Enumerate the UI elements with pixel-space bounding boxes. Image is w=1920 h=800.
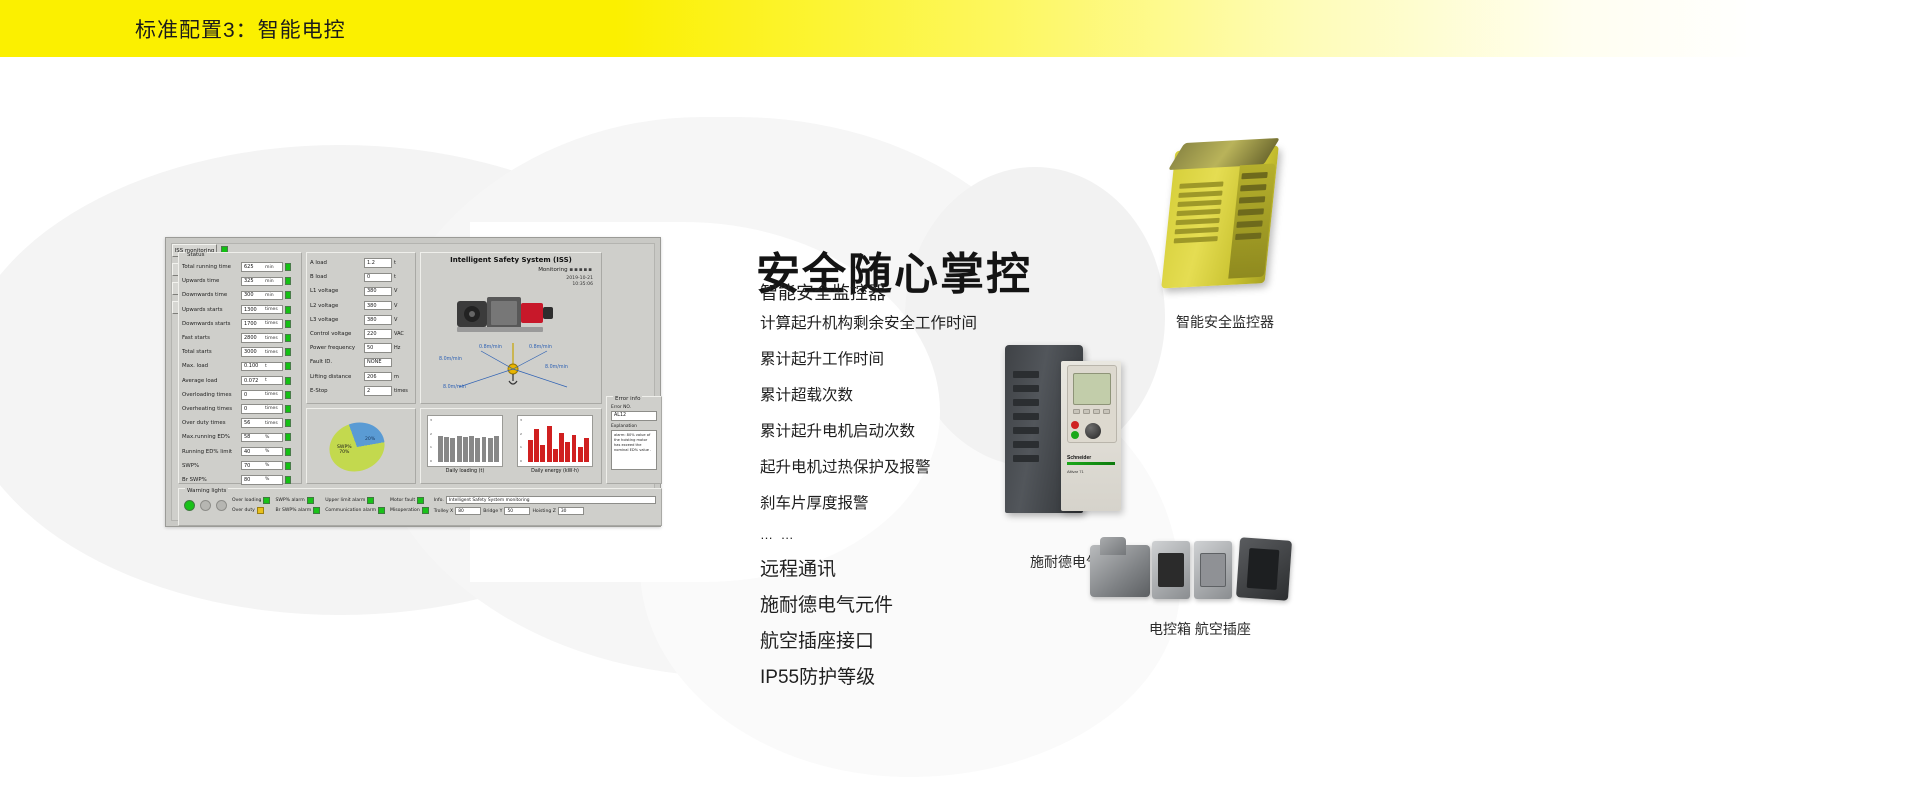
row-unit: t [394, 274, 408, 280]
lamp-label: Over loading [232, 498, 261, 503]
row-unit: Hz [394, 345, 408, 351]
daily-energy-chart: 3210 [517, 415, 593, 467]
table-row: Power frequency50Hz [307, 341, 415, 355]
row-unit: % [265, 477, 269, 482]
row-field[interactable]: 0.100t [241, 362, 283, 372]
lamp-indicator [307, 497, 314, 504]
row-label: L1 voltage [310, 288, 362, 294]
lamp-br-swp-alarm: Br SWP% alarm [275, 507, 320, 514]
winch-illustration [451, 285, 561, 341]
row-field[interactable]: 2 [364, 386, 392, 396]
status-led [285, 476, 291, 484]
row-field[interactable]: 0.072t [241, 376, 283, 386]
highlight-item: 施耐德电气元件 [760, 590, 1090, 617]
table-row: Fast starts2800times [179, 331, 301, 345]
connectors-image [1090, 535, 1300, 605]
row-value: 70 [244, 463, 262, 469]
table-row: Downwards starts1700times [179, 317, 301, 331]
swp-pie-chart-group: 20% SWP%70% [306, 408, 416, 484]
date-value: 2019-10-21 [566, 276, 593, 282]
safety-relay-caption: 智能安全监控器 [1145, 312, 1305, 332]
table-row: L1 voltage380V [307, 284, 415, 298]
row-unit: t [265, 378, 267, 383]
row-label: Upwards starts [182, 307, 239, 313]
main-visualization-group: Intelligent Safety System (ISS) Monitori… [420, 252, 602, 404]
row-value: 1300 [244, 307, 262, 313]
status-led [285, 277, 291, 285]
row-field[interactable]: 0 [364, 273, 392, 283]
status-led [285, 348, 291, 356]
row-label: Lifting distance [310, 374, 362, 380]
lamp-column-4: Motor fault Misoperation [390, 497, 429, 514]
row-value: 40 [244, 449, 262, 455]
daily-loading-chart: 3210 [427, 415, 503, 467]
row-value: 0 [244, 392, 262, 398]
row-label: Control voltage [310, 331, 362, 337]
pie-slices [322, 415, 391, 479]
row-unit: times [265, 307, 278, 312]
table-row: L2 voltage380V [307, 299, 415, 313]
row-field[interactable]: 380 [364, 301, 392, 311]
row-field[interactable]: 325min [241, 277, 283, 287]
measurement-group: A load1.2t B load0t L1 voltage380V L2 vo… [306, 252, 416, 404]
status-led [285, 377, 291, 385]
table-row: Overloading times0times [179, 388, 301, 402]
status-led [285, 419, 291, 427]
lamp-over-duty: Over duty [232, 507, 270, 514]
table-row: Upwards starts1300times [179, 303, 301, 317]
lamp-label: Motor fault [390, 498, 415, 503]
time-value: 10:35:06 [566, 282, 593, 288]
row-unit: times [265, 406, 278, 411]
pie-chart: 20% SWP%70% [307, 415, 417, 485]
row-unit: VAC [394, 331, 408, 337]
table-row: Max.running ED%58% [179, 430, 301, 444]
row-label: Over duty times [182, 420, 239, 426]
row-value: 3000 [244, 349, 262, 355]
highlight-item: IP55防护等级 [760, 662, 1090, 689]
lamp-upper-limit-alarm: Upper limit alarm [325, 497, 385, 504]
speed-label: 8.0m/min [439, 357, 462, 362]
lamp-column-3: Upper limit alarm Communication alarm [325, 497, 385, 514]
row-unit: times [265, 336, 278, 341]
table-row: L3 voltage380V [307, 313, 415, 327]
row-value: 325 [244, 278, 262, 284]
error-no-value[interactable]: AL12 [611, 411, 657, 421]
row-unit: times [265, 350, 278, 355]
row-unit: min [265, 265, 274, 270]
status-led [285, 334, 291, 342]
row-unit: % [265, 449, 269, 454]
warning-lights-group: Warning lights Over loading Over duty SW… [178, 488, 662, 526]
status-led [285, 462, 291, 470]
row-value: 1700 [244, 321, 262, 327]
trolley-x-value[interactable]: 80 [455, 507, 481, 515]
row-field[interactable]: 206 [364, 372, 392, 382]
row-field[interactable]: 300min [241, 291, 283, 301]
chart-y-axis: 3210 [520, 418, 527, 463]
status-led [285, 291, 291, 299]
lamp-swp-alarm: SWP% alarm [275, 497, 320, 504]
row-unit: m [394, 374, 408, 380]
row-label: Total starts [182, 349, 239, 355]
row-field[interactable]: 1300times [241, 305, 283, 315]
chart-bars [528, 420, 589, 462]
table-row: Over duty times56times [179, 416, 301, 430]
row-field[interactable]: 40% [241, 447, 283, 457]
lamp-over-loading: Over loading [232, 497, 270, 504]
table-row: Running ED% limit40% [179, 444, 301, 458]
row-label: Fault ID. [310, 359, 362, 365]
hoisting-z-value[interactable]: 30 [558, 507, 584, 515]
info-row: Info. Intelligent Safety System monitori… [434, 496, 656, 504]
lamp-label: Br SWP% alarm [275, 508, 311, 513]
table-row: A load1.2t [307, 256, 415, 270]
status-led [285, 320, 291, 328]
lamp-indicator [378, 507, 385, 514]
page-stage: Status Total running time625min Upwards … [0, 57, 1920, 800]
row-value: 80 [244, 477, 262, 483]
trolley-x-label: Trolley X [434, 509, 453, 514]
explanation-label: Explanation [611, 424, 657, 429]
row-label: E-Stop [310, 388, 362, 394]
table-row: Lifting distance206m [307, 370, 415, 384]
error-info-label: Error info [613, 396, 642, 402]
table-row: Average load0.072t [179, 374, 301, 388]
info-label: Info. [434, 498, 444, 503]
row-unit: t [394, 260, 408, 266]
row-field[interactable]: 0times [241, 390, 283, 400]
datetime-display: 2019-10-21 10:35:06 [566, 276, 593, 287]
page-banner: 标准配置3：智能电控 [0, 0, 1920, 57]
row-field[interactable]: 80% [241, 475, 283, 485]
row-field[interactable]: 380 [364, 287, 392, 297]
connectors-caption: 电控箱 航空插座 [1110, 619, 1290, 639]
row-unit: % [265, 463, 269, 468]
row-label: Fast starts [182, 335, 239, 341]
feature-heading: 智能安全监控器 [760, 279, 1090, 305]
table-row: B load0t [307, 270, 415, 284]
pie-label-minor: SWP%70% [337, 445, 352, 455]
status-led [285, 362, 291, 370]
row-label: L3 voltage [310, 317, 362, 323]
banner-title: 标准配置3：智能电控 [135, 14, 346, 44]
row-label: Br SWP% [182, 477, 239, 483]
row-field[interactable]: 0times [241, 404, 283, 414]
row-field[interactable]: 625min [241, 262, 283, 272]
table-row: Control voltage220VAC [307, 327, 415, 341]
hoisting-z-label: Hoisting Z [532, 509, 555, 514]
monitoring-dots: ▪▪▪▪▪ [569, 267, 593, 273]
row-label: Max. load [182, 363, 239, 369]
row-unit: min [265, 293, 274, 298]
row-unit: times [394, 388, 408, 394]
chart-y-axis: 3210 [430, 418, 437, 463]
row-label: Downwards time [182, 292, 239, 298]
status-led [285, 391, 291, 399]
status-rows: Total running time625min Upwards time325… [179, 253, 301, 487]
table-row: E-Stop2times [307, 384, 415, 398]
row-field[interactable]: 50 [364, 343, 392, 353]
monitoring-label: Monitoring [538, 267, 567, 273]
lamp-label: Over duty [232, 508, 255, 513]
row-field[interactable]: 220 [364, 329, 392, 339]
row-unit: times [265, 321, 278, 326]
row-field[interactable]: 56times [241, 418, 283, 428]
status-group-label: Status [185, 252, 207, 258]
speed-label: 0.8m/min [479, 345, 502, 350]
row-field[interactable]: 1.2 [364, 258, 392, 268]
status-led [285, 405, 291, 413]
safety-relay-image [1150, 135, 1295, 295]
row-label: Upwards time [182, 278, 239, 284]
coords-row: Trolley X 80 Bridge Y 50 Hoisting Z 30 [434, 507, 656, 515]
table-row: Total starts3000times [179, 345, 301, 359]
lamp-misoperation: Misoperation [390, 507, 429, 514]
lamp-label: Upper limit alarm [325, 498, 365, 503]
table-row: Downwards time300min [179, 288, 301, 302]
error-no-label: Error NO. [611, 405, 657, 410]
row-label: Overheating times [182, 406, 239, 412]
row-unit: t [265, 364, 267, 369]
hook-diagram [429, 341, 597, 399]
row-field[interactable]: 2800times [241, 333, 283, 343]
row-unit: times [265, 421, 278, 426]
status-led [285, 306, 291, 314]
row-unit: V [394, 288, 408, 294]
row-field[interactable]: 1700times [241, 319, 283, 329]
lamp-indicator [422, 507, 429, 514]
row-label: Max.running ED% [182, 434, 239, 440]
row-label: Downwards starts [182, 321, 239, 327]
daily-energy-caption: Daily energy (kW·h) [517, 469, 593, 474]
row-field[interactable]: NONE [364, 358, 392, 368]
row-label: Total running time [182, 264, 239, 270]
row-label: Power frequency [310, 345, 362, 351]
lamp-column-2: SWP% alarm Br SWP% alarm [275, 497, 320, 514]
row-unit: V [394, 317, 408, 323]
lamp-indicator [313, 507, 320, 514]
row-value: 56 [244, 420, 262, 426]
feature-subtitle: 计算起升机构剩余安全工作时间 [760, 311, 1090, 333]
error-info-group: Error info Error NO. AL12 Explanation al… [606, 396, 662, 484]
explanation-text: alarm: 80% value of the hoisting motor h… [611, 430, 657, 470]
monitoring-indicator: Monitoring ▪▪▪▪▪ [538, 267, 593, 273]
bridge-y-label: Bridge Y [483, 509, 502, 514]
row-label: SWP% [182, 463, 239, 469]
daily-loading-caption: Daily loading (t) [427, 469, 503, 474]
table-row: Overheating times0times [179, 402, 301, 416]
lamp-communication-alarm: Communication alarm [325, 507, 385, 514]
row-label: Overloading times [182, 392, 239, 398]
bridge-y-value[interactable]: 50 [504, 507, 530, 515]
schneider-vfd-image: Schneider Altivar 71 [1005, 335, 1125, 517]
lamp-indicator [257, 507, 264, 514]
row-value: 0.072 [244, 378, 262, 384]
row-value: 300 [244, 292, 262, 298]
table-row: Max. load0.100t [179, 359, 301, 373]
row-label: Running ED% limit [182, 449, 239, 455]
info-value[interactable]: Intelligent Safety System monitoring [446, 496, 656, 504]
row-label: Average load [182, 378, 239, 384]
row-value: 0.100 [244, 363, 262, 369]
pie-label-major: 20% [365, 437, 375, 442]
chart-bars [438, 420, 499, 462]
lamp-column-1: Over loading Over duty [232, 497, 270, 514]
indicator-lamp-grey-1 [200, 500, 211, 511]
status-led [285, 433, 291, 441]
status-led [285, 448, 291, 456]
status-group: Status Total running time625min Upwards … [178, 252, 302, 484]
lamp-label: Misoperation [390, 508, 420, 513]
table-row: Fault ID.NONE [307, 355, 415, 369]
table-row: Upwards time325min [179, 274, 301, 288]
lamp-label: SWP% alarm [275, 498, 304, 503]
row-field[interactable]: 58% [241, 433, 283, 443]
status-led [285, 263, 291, 271]
indicator-lamp-green [184, 500, 195, 511]
warning-lights-label: Warning lights [185, 488, 228, 494]
lamp-indicator [417, 497, 424, 504]
highlight-item: 航空插座接口 [760, 626, 1090, 653]
row-label: B load [310, 274, 362, 280]
row-value: 58 [244, 434, 262, 440]
speed-label: 8.0m/min [545, 365, 568, 370]
iss-hmi-screenshot: Status Total running time625min Upwards … [165, 237, 661, 527]
list-ellipsis: … … [760, 527, 1090, 542]
indicator-lamp-grey-2 [216, 500, 227, 511]
row-field[interactable]: 380 [364, 315, 392, 325]
row-label: A load [310, 260, 362, 266]
row-label: L2 voltage [310, 303, 362, 309]
info-column: Info. Intelligent Safety System monitori… [434, 496, 656, 515]
row-unit: V [394, 303, 408, 309]
lamp-label: Communication alarm [325, 508, 376, 513]
lamp-indicator [263, 497, 270, 504]
hmi-title: Intelligent Safety System (ISS) [421, 253, 601, 264]
row-value: 0 [244, 406, 262, 412]
row-field[interactable]: 70% [241, 461, 283, 471]
row-unit: min [265, 279, 274, 284]
row-field[interactable]: 3000times [241, 347, 283, 357]
table-row: SWP%70% [179, 459, 301, 473]
speed-label: 0.8m/min [529, 345, 552, 350]
speed-label: 8.0m/min [443, 385, 466, 390]
bar-charts-group: 3210 Daily loading (t) 3210 Daily [420, 408, 602, 484]
row-unit: % [265, 435, 269, 440]
row-value: 2800 [244, 335, 262, 341]
lamp-indicator [367, 497, 374, 504]
lamp-motor-fault: Motor fault [390, 497, 429, 504]
row-value: 625 [244, 264, 262, 270]
table-row: Total running time625min [179, 260, 301, 274]
row-unit: times [265, 392, 278, 397]
table-row: Br SWP%80% [179, 473, 301, 487]
